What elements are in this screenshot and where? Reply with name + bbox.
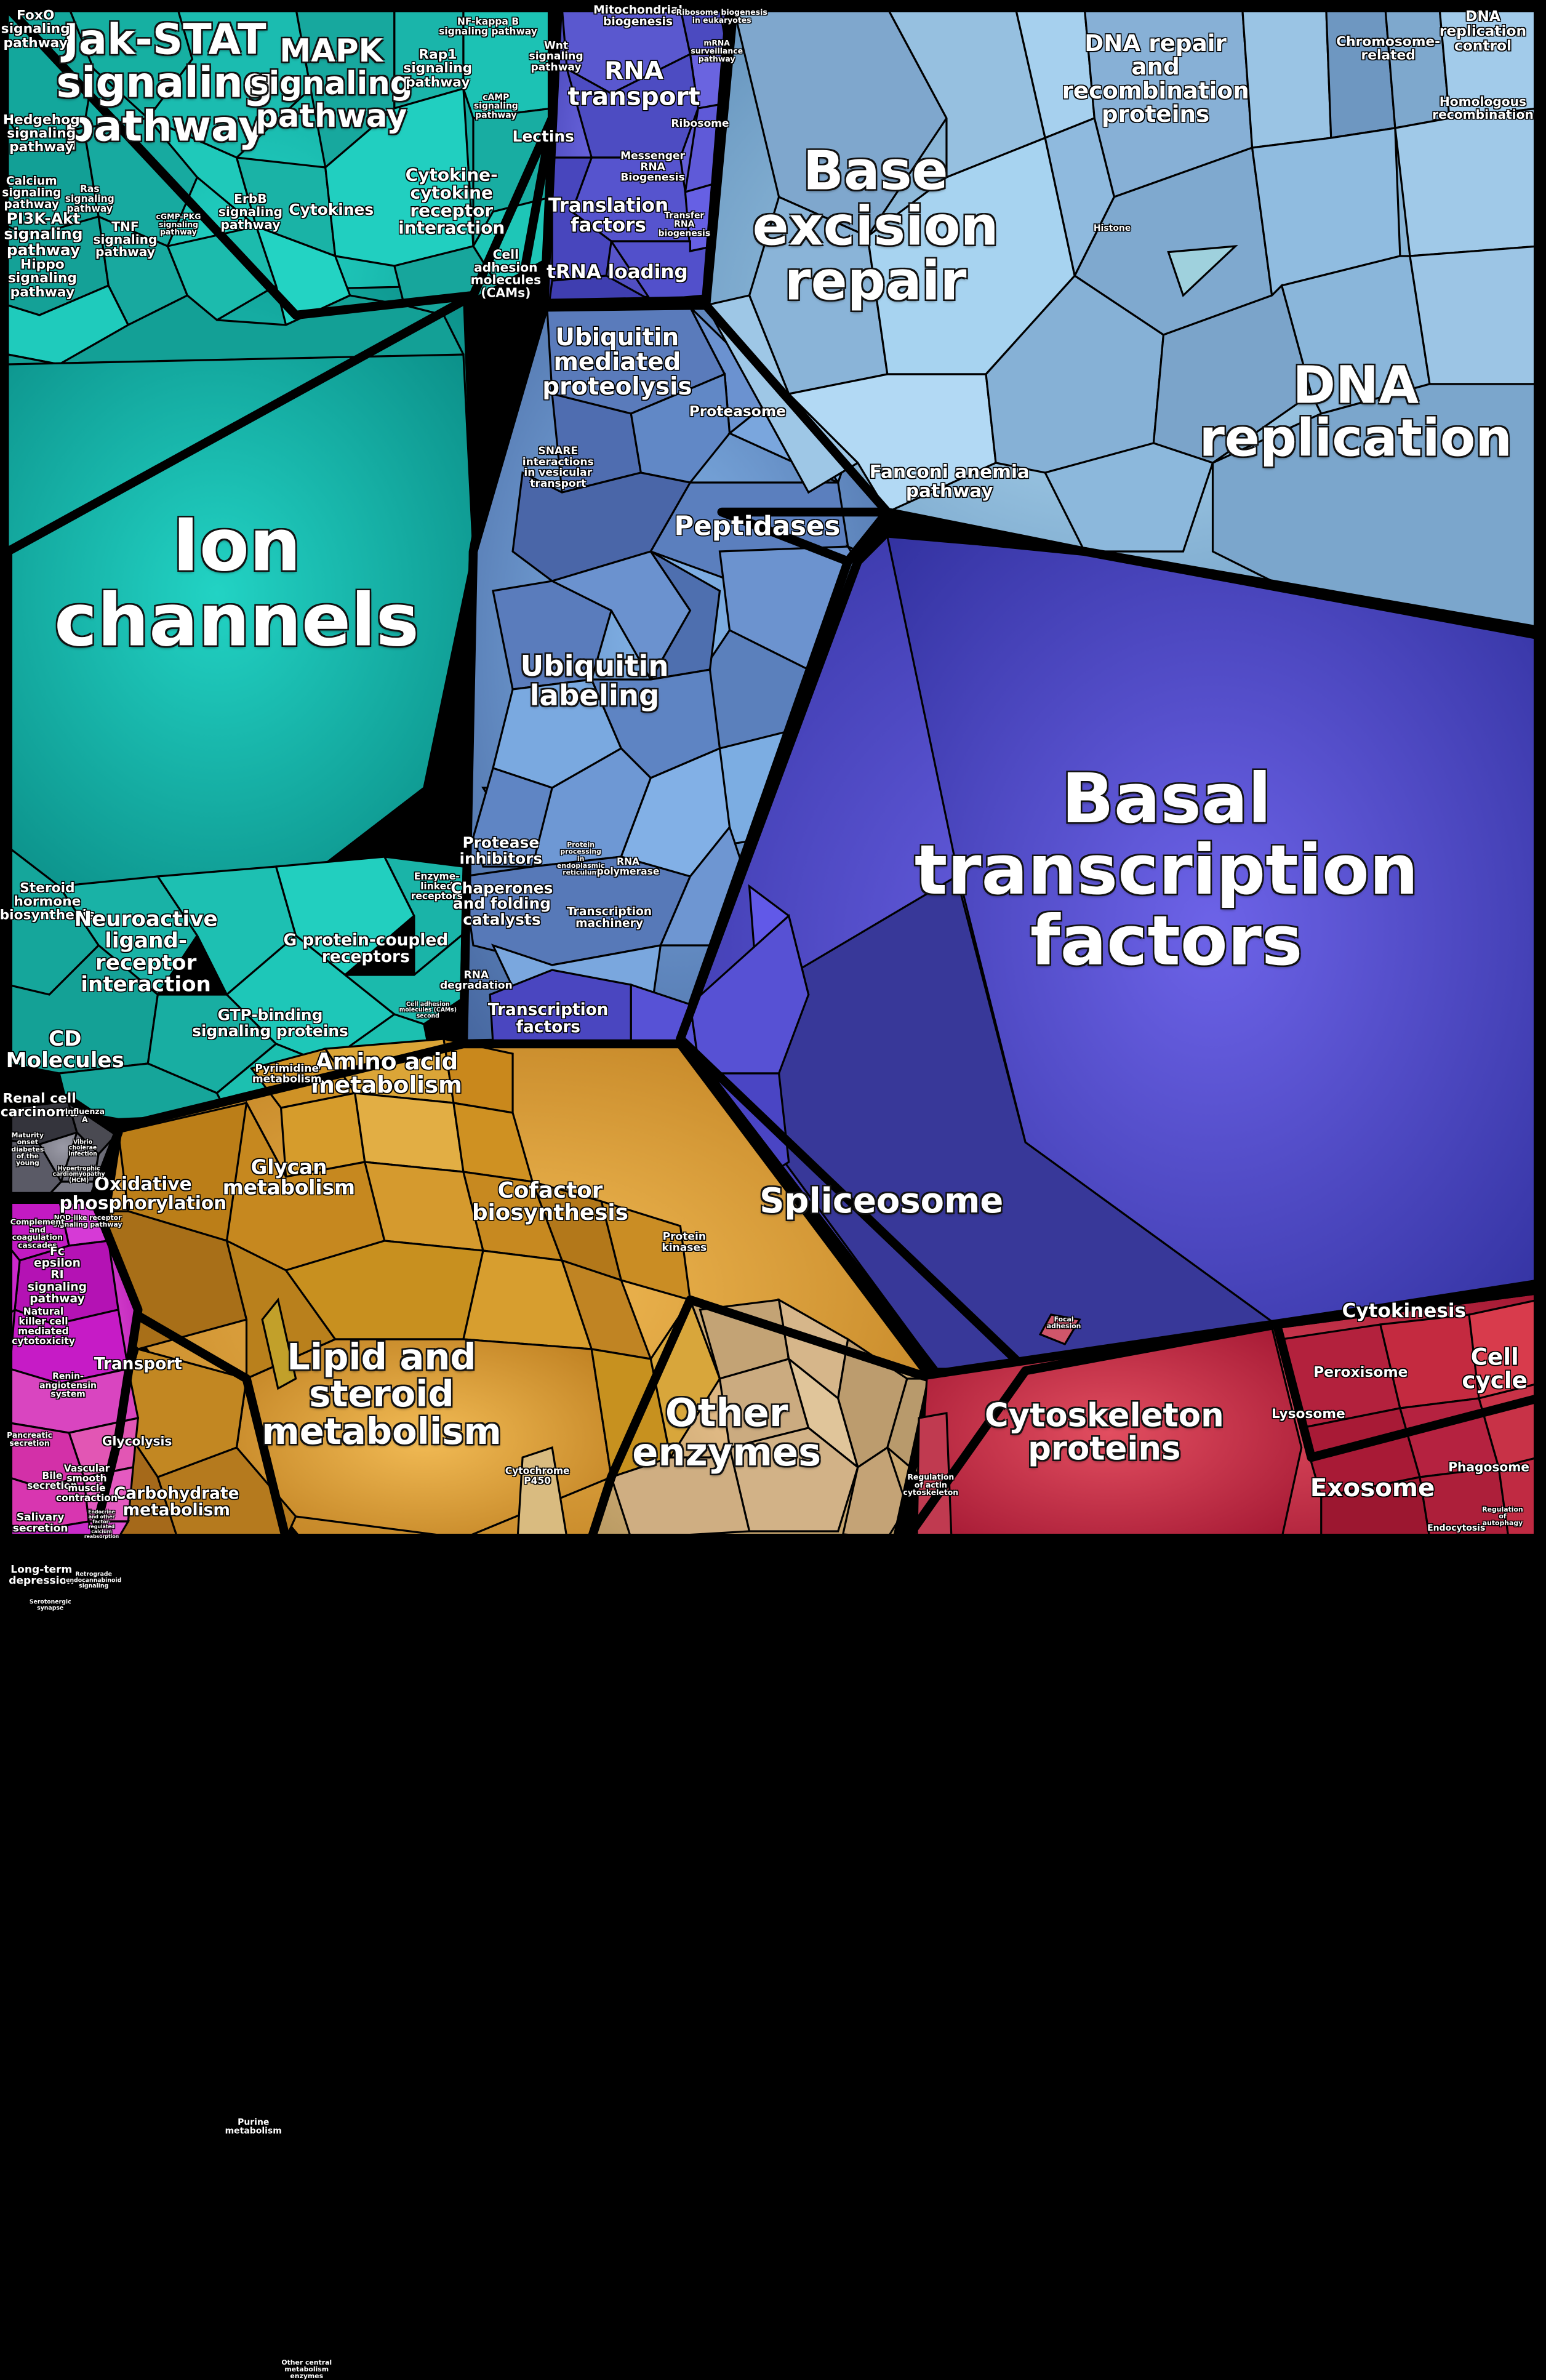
group-organismal [8, 1200, 138, 1538]
region-label: Purine metabolism [225, 2118, 282, 2136]
region-label: Retrograde endocannabinoid signaling [66, 1572, 121, 1590]
group-translation [544, 8, 729, 305]
region-label: Serotonergic synapse [30, 1599, 71, 1611]
treemap-cells [8, 8, 1538, 1538]
region-label: Long-term depression [9, 1565, 74, 1586]
voronoi-treemap-figure: Jak-STAT signaling pathwayMAPK signaling… [0, 0, 1546, 1546]
region-label: Other central metabolism enzymes [281, 2359, 332, 2380]
treemap-svg [0, 0, 1546, 1546]
